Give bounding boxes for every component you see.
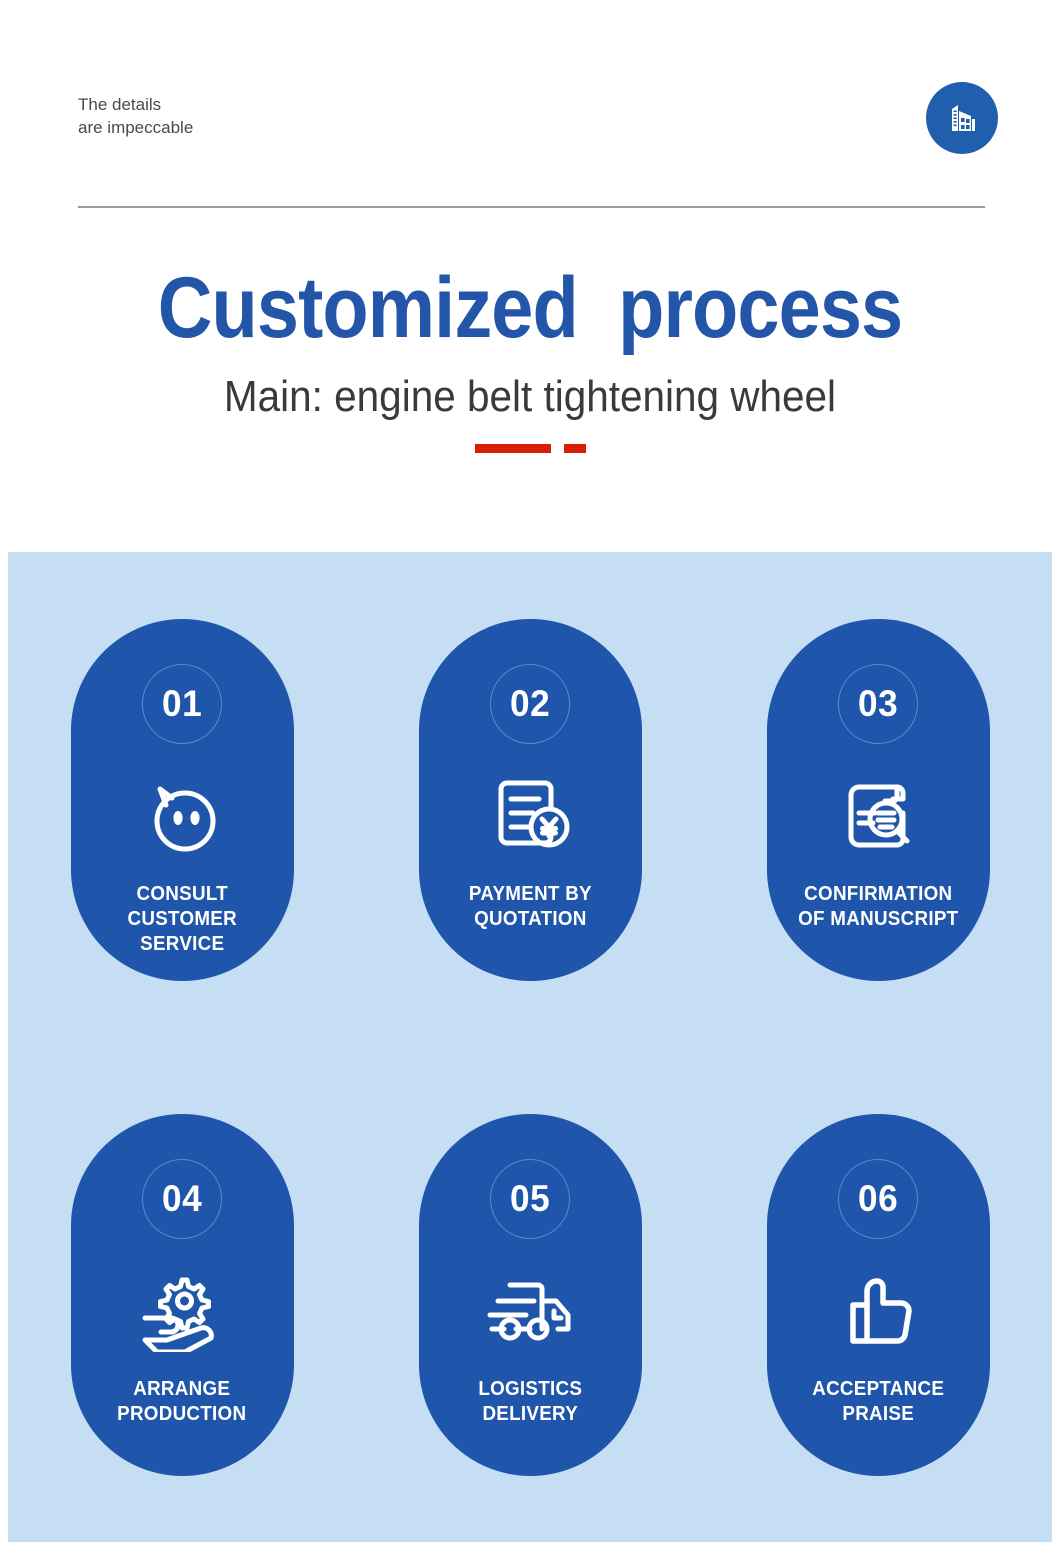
step-number-badge: 06 xyxy=(838,1159,918,1239)
step-number-badge: 03 xyxy=(838,664,918,744)
step-number: 02 xyxy=(510,683,550,725)
process-card-label: CONSULT CUSTOMER SERVICE xyxy=(120,882,245,957)
accent-dash-short xyxy=(564,444,586,453)
company-logo xyxy=(926,82,998,154)
process-card[interactable]: 03 xyxy=(767,619,990,981)
page-title: Customized process xyxy=(64,260,997,356)
page-subtitle: Main: engine belt tightening wheel xyxy=(42,370,1017,424)
title-block: Customized process Main: engine belt tig… xyxy=(0,260,1060,453)
process-card-label: CONFIRMATION OF MANUSCRIPT xyxy=(790,882,965,932)
step-number: 04 xyxy=(162,1178,202,1220)
step-number: 06 xyxy=(858,1178,898,1220)
accent-dash-long xyxy=(475,444,551,453)
step-number-badge: 04 xyxy=(142,1159,222,1239)
process-card-label: LOGISTICS DELIVERY xyxy=(471,1377,590,1427)
process-card-label: PAYMENT BY QUOTATION xyxy=(461,882,599,932)
accent-dashes xyxy=(0,444,1060,453)
page-header: The details are impeccable xyxy=(0,0,1060,210)
process-card[interactable]: 02 xyxy=(419,619,642,981)
document-magnifier-icon xyxy=(828,770,928,862)
process-card-grid: 01 CONSULT CUSTOMER SERVICE 02 xyxy=(8,552,1052,1542)
step-number: 05 xyxy=(510,1178,550,1220)
factory-building-icon xyxy=(941,97,983,139)
process-card-label: ACCEPTANCE PRAISE xyxy=(804,1377,951,1427)
process-card[interactable]: 04 ARRANGE PRODUCTION xyxy=(71,1114,294,1476)
customer-service-chat-icon xyxy=(132,770,232,862)
step-number-badge: 01 xyxy=(142,664,222,744)
header-caption: The details are impeccable xyxy=(78,93,193,139)
hand-gear-icon xyxy=(132,1265,232,1357)
step-number: 01 xyxy=(162,683,202,725)
step-number-badge: 05 xyxy=(490,1159,570,1239)
process-card[interactable]: 06 ACCEPTANCE PRAISE xyxy=(767,1114,990,1476)
step-number-badge: 02 xyxy=(490,664,570,744)
process-card-label: ARRANGE PRODUCTION xyxy=(110,1377,254,1427)
process-panel: 01 CONSULT CUSTOMER SERVICE 02 xyxy=(8,552,1052,1542)
process-card[interactable]: 05 LOGISTICS DEL xyxy=(419,1114,642,1476)
process-card[interactable]: 01 CONSULT CUSTOMER SERVICE xyxy=(71,619,294,981)
invoice-yen-icon xyxy=(480,770,580,862)
step-number: 03 xyxy=(858,683,898,725)
header-divider xyxy=(78,206,985,208)
thumbs-up-icon xyxy=(828,1265,928,1357)
delivery-truck-icon xyxy=(480,1265,580,1357)
